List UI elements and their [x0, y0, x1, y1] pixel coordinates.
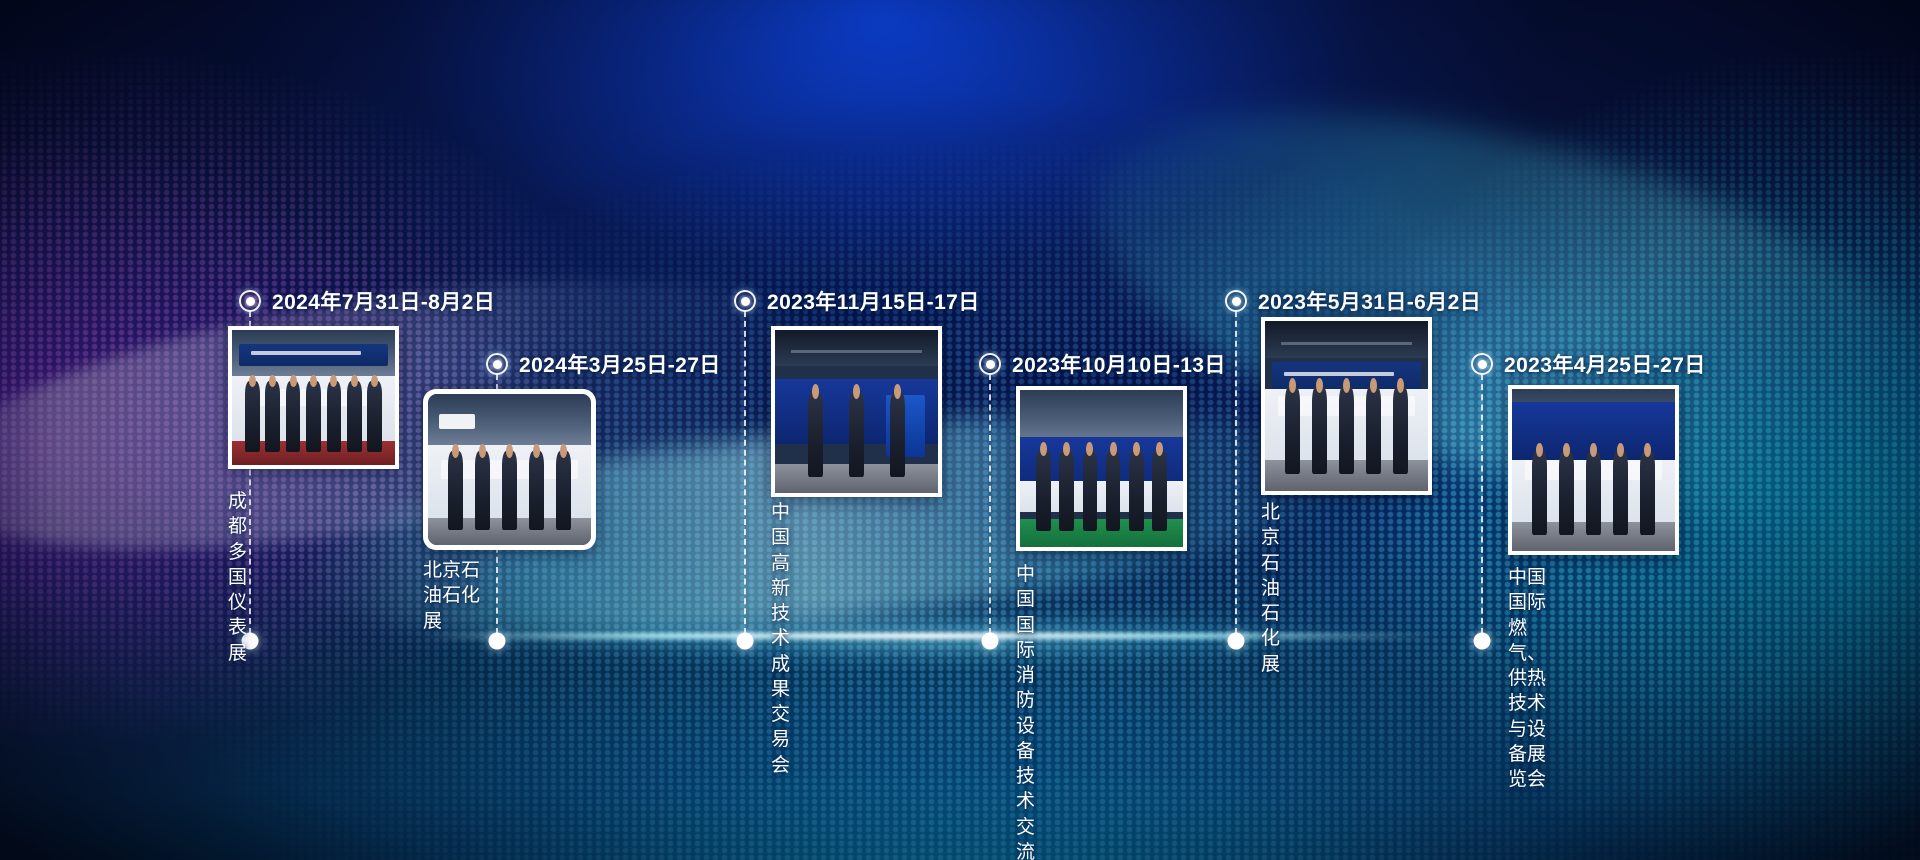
ring-dot-icon[interactable] [1471, 353, 1493, 375]
timeline-photo[interactable] [1508, 385, 1679, 555]
exhibition-booth-image [1265, 321, 1428, 491]
timeline-connector-line [744, 311, 746, 634]
exhibition-booth-image [232, 330, 395, 465]
timeline-photo[interactable] [228, 326, 399, 469]
ring-dot-icon[interactable] [1225, 290, 1247, 312]
ring-dot-icon[interactable] [734, 290, 756, 312]
timeline-caption: 北京石油石化展 [423, 558, 497, 634]
timeline-caption: 中国国际燃气、供热 技术与设备展览会 [1508, 565, 1546, 792]
solid-dot-icon [982, 633, 999, 650]
timeline-connector-line [1235, 311, 1237, 634]
ring-dot-icon[interactable] [979, 353, 1001, 375]
timeline-caption: 中国国际消防设备 技术交流展览会 [1016, 562, 1035, 860]
timeline-track: 2024年7月31日-8月2日成都多国仪表展2024年3月25日-27日北京石油… [0, 0, 1920, 860]
timeline-photo[interactable] [771, 326, 942, 497]
timeline-photo[interactable] [423, 389, 596, 550]
solid-dot-icon [1228, 633, 1245, 650]
exhibition-booth-image [428, 394, 591, 545]
exhibition-booth-image [775, 330, 938, 493]
timeline-photo[interactable] [1261, 317, 1432, 495]
timeline-caption: 成都多国仪表展 [228, 489, 250, 666]
timeline-caption: 中国高新技术 成果交易会 [771, 500, 790, 778]
solid-dot-icon [489, 633, 506, 650]
timeline-date-label: 2023年10月10日-13日 [1012, 349, 1226, 379]
timeline-infographic: 2024年7月31日-8月2日成都多国仪表展2024年3月25日-27日北京石油… [0, 0, 1920, 860]
timeline-date-label: 2023年4月25日-27日 [1504, 349, 1706, 379]
timeline-date-label: 2023年11月15日-17日 [767, 286, 980, 316]
ring-dot-icon[interactable] [486, 353, 508, 375]
timeline-date-label: 2023年5月31日-6月2日 [1258, 286, 1481, 316]
solid-dot-icon [737, 633, 754, 650]
timeline-connector-line [989, 374, 991, 634]
timeline-caption: 北京石油石化展 [1261, 500, 1280, 677]
exhibition-booth-image [1512, 389, 1675, 551]
ring-dot-icon[interactable] [239, 290, 261, 312]
timeline-photo[interactable] [1016, 386, 1187, 551]
exhibition-booth-image [1020, 390, 1183, 547]
solid-dot-icon [1474, 633, 1491, 650]
timeline-connector-line [1481, 374, 1483, 634]
timeline-date-label: 2024年7月31日-8月2日 [272, 286, 495, 316]
timeline-date-label: 2024年3月25日-27日 [519, 349, 721, 379]
